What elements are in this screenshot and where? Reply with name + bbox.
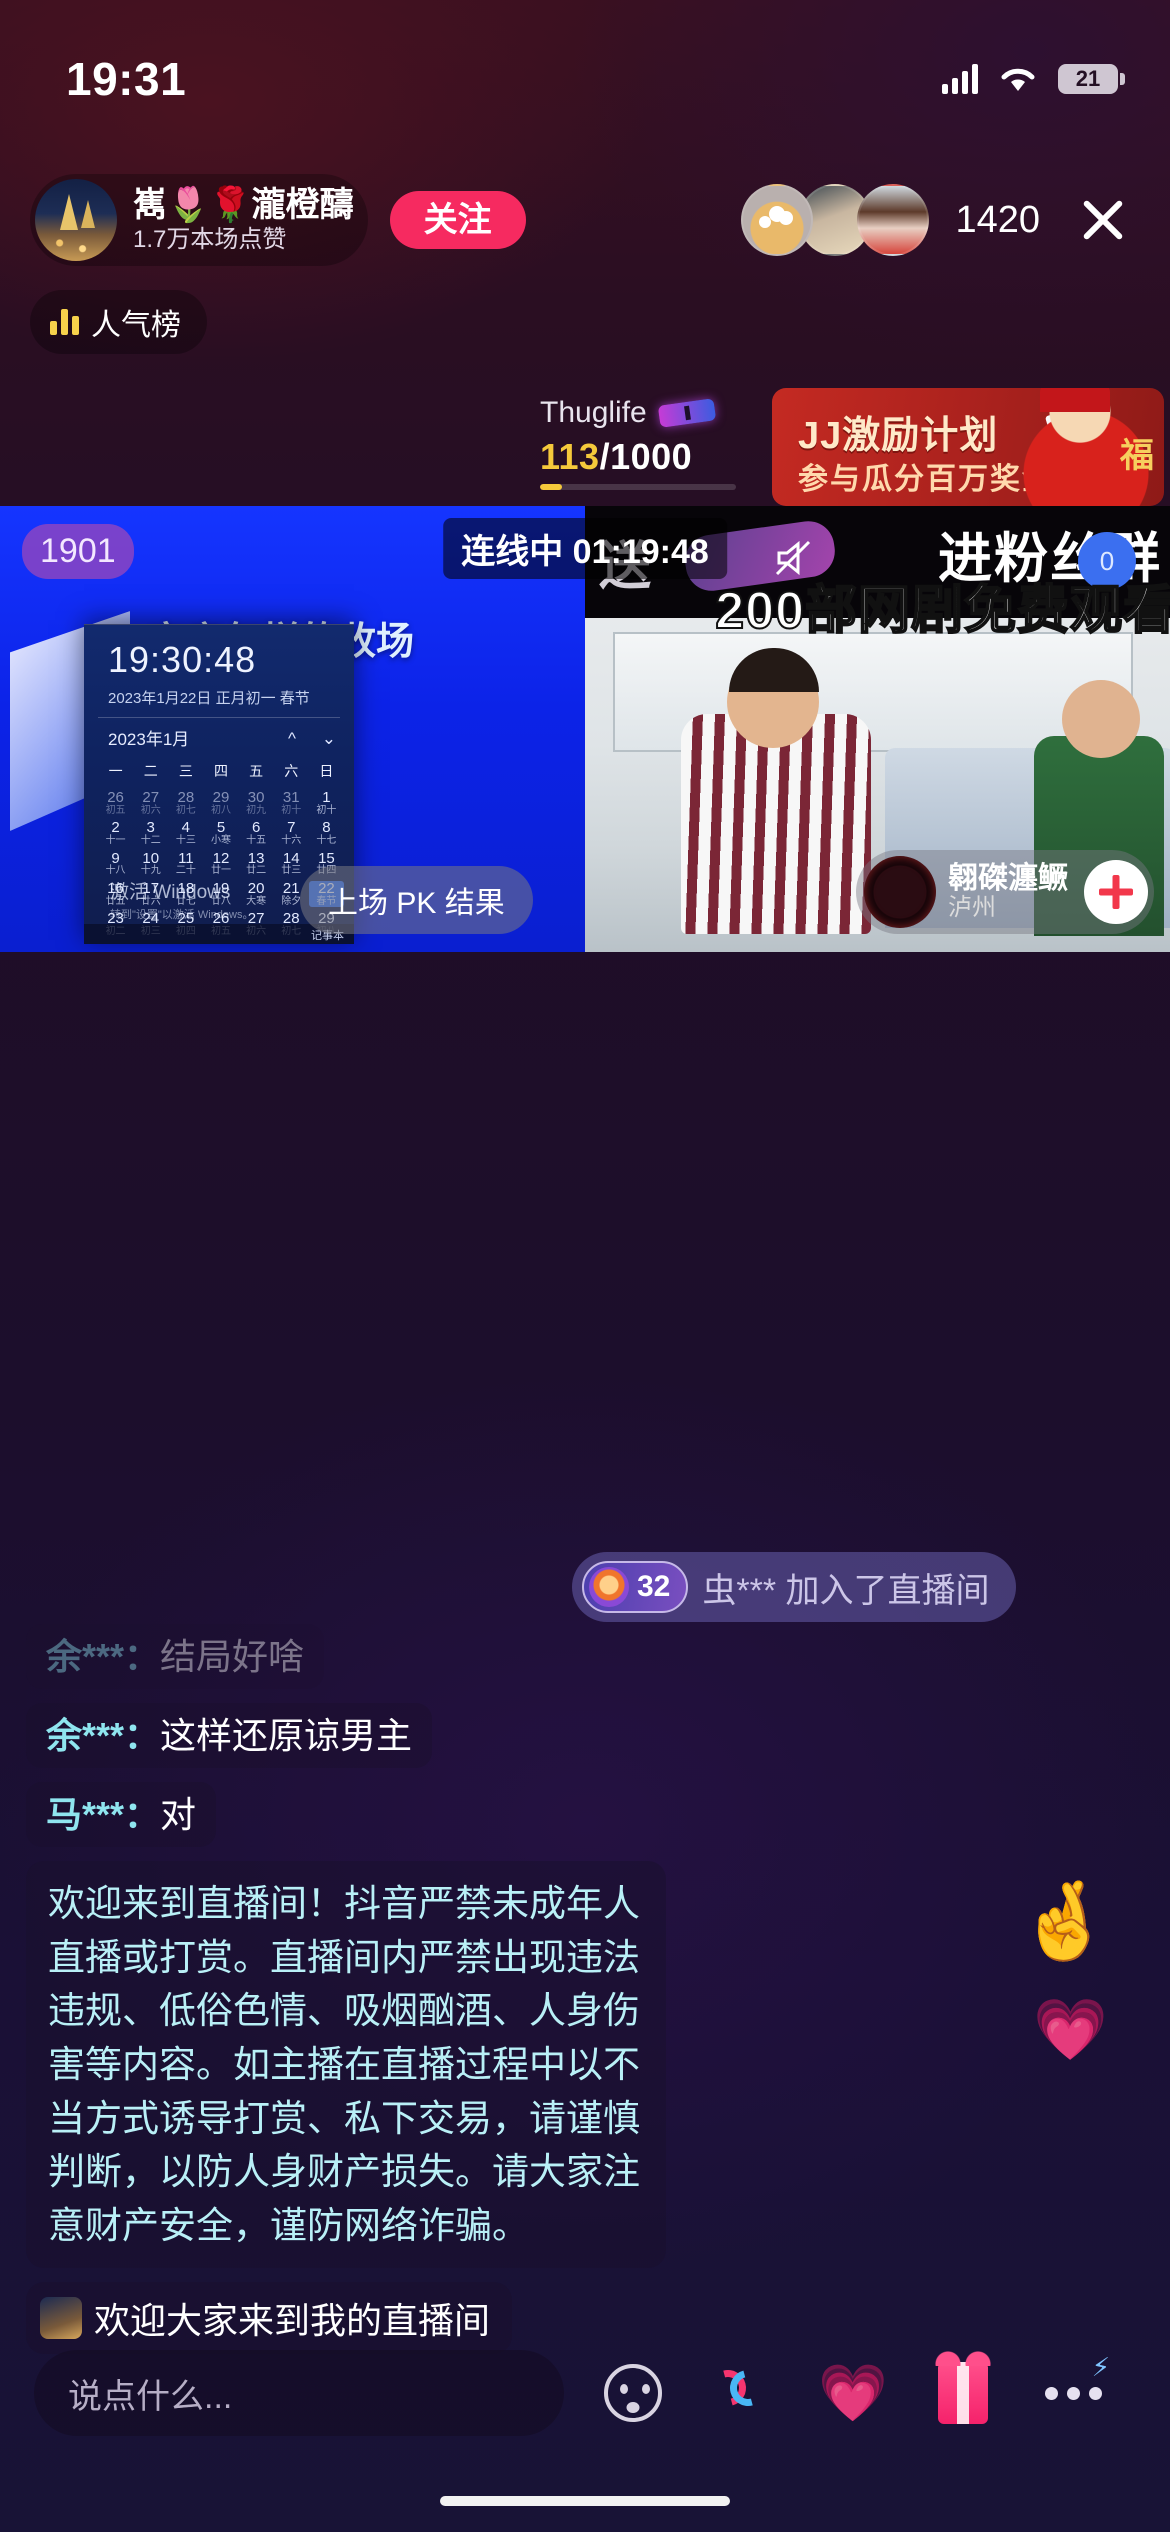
thuglife-name: Thuglife [540,396,647,430]
reaction-heart-icon: 💗 [1033,2000,1108,2060]
anchor-thumbnail [40,2297,82,2339]
anchor-meta: 嶲🌷🌹瀧橙醻 1.7万本场点赞 [133,187,360,254]
live-stream-app: 19:31 21 嶲🌷🌹瀧橙醻 1.7万本场点赞 关注 [0,0,1170,2532]
cellular-signal-icon [942,64,978,94]
panel-divider [98,717,340,718]
link-mic-button[interactable] [688,2338,798,2448]
viewer-avatar-3[interactable] [857,184,929,256]
welcome-text: 欢迎大家来到我的直播间 [94,2292,490,2344]
fortune-god-icon [1008,388,1158,506]
gift-button[interactable] [908,2338,1018,2448]
overlay-subtitle: 200部网剧免费观看 [715,568,1170,643]
guest-meta: 翱磔瀍鳜 泸州 [948,863,1068,921]
calendar-day-cell[interactable]: 8十七 [309,820,344,846]
anchor-avatar[interactable] [35,179,117,261]
windows-date: 2023年1月22日 正月初一 春节 [108,687,310,708]
popularity-rank-chip[interactable]: 人气榜 [30,290,207,354]
anchor-stats: 1.7万本场点赞 [133,227,354,253]
bolt-icon: ⚡ [1092,2352,1110,2383]
level-number: 32 [637,1570,670,1604]
guest-location: 泸州 [948,895,1068,921]
guest-avatar[interactable] [864,856,936,928]
calendar-weekday: 二 [133,761,168,786]
guest-info-bar[interactable]: 翱磔瀍鳜 泸州 [856,850,1154,934]
header-right-group: 1420 [741,184,1134,256]
guest-name: 翱磔瀍鳜 [948,863,1068,895]
calendar-day-cell[interactable]: 28初七 [168,790,203,816]
promo-banner[interactable]: JJ激励计划 参与瓜分百万奖金 [772,388,1164,506]
thuglife-separator: / [600,436,611,477]
join-room-text: 虫*** 加入了直播间 [702,1563,989,1612]
more-button[interactable]: ⚡ [1018,2338,1128,2448]
system-notice-text: 欢迎来到直播间！抖音严禁未成年人直播或打赏。直播间内严禁出现违法违规、低俗色情、… [26,1861,666,2268]
calendar-day-cell[interactable]: 27初六 [133,790,168,816]
system-notice-message: 欢迎来到直播间！抖音严禁未成年人直播或打赏。直播间内严禁出现违法违规、低俗色情、… [26,1861,666,2268]
calendar-weekday: 四 [203,761,238,786]
like-button[interactable]: 💗 [798,2338,908,2448]
message-input[interactable]: 说点什么... [34,2350,564,2436]
link-status-timer: 连线中 01:19:48 [443,518,727,579]
calendar-weekday: 五 [239,761,274,786]
calendar-day-cell[interactable]: 14廿三 [274,851,309,877]
battery-icon: 21 [1058,64,1118,94]
windows-activation-subtext: 转到"设置"以激活 Windows。 [110,906,254,922]
chat-text: 结局好啥 [160,1636,304,1677]
calendar-month-label: 2023年1月 [108,725,189,750]
chat-bubble: 余***：结局好啥 [26,1624,324,1689]
link-icon [710,2364,776,2422]
heart-icon: 💗 [818,2365,888,2421]
message-input-placeholder: 说点什么... [68,2369,232,2418]
pk-result-button[interactable]: 上场 PK 结果 [300,866,533,934]
calendar-day-cell[interactable]: 10十九 [133,851,168,877]
viewer-count[interactable]: 1420 [955,199,1040,242]
level-badge: 32 [582,1561,688,1613]
plus-icon[interactable] [1084,860,1148,924]
chat-message[interactable]: 余***：结局好啥 [26,1624,324,1689]
windows-activation-watermark: 激活 Windows 转到"设置"以激活 Windows。 [110,877,254,922]
calendar-day-cell[interactable]: 12廿一 [203,851,238,877]
thuglife-progress-widget[interactable]: Thuglife 113/1000 [540,396,770,490]
viewer-avatar-1[interactable] [741,184,813,256]
calendar-weekday: 三 [168,761,203,786]
gift-icon [938,2362,988,2424]
calendar-weekday: 一 [98,761,133,786]
link-status-label: 连线中 [461,533,563,571]
link-timer-value: 01:19:48 [573,533,709,571]
chevron-up-icon[interactable]: ^ [288,729,296,749]
calendar-day-cell[interactable]: 13廿二 [239,851,274,877]
more-icon [1045,2387,1102,2400]
anchor-name: 嶲🌷🌹瀧橙醻 [133,187,354,224]
thuglife-progress-bar [540,484,736,490]
bar-chart-icon [50,309,79,335]
pk-score-badge: 1901 [22,524,134,579]
thuglife-header: Thuglife [540,396,770,430]
close-icon[interactable] [1072,189,1134,251]
sunglasses-icon [657,398,716,428]
calendar-day-cell[interactable]: 11二十 [168,851,203,877]
scene-character-man [681,714,871,934]
follow-button[interactable]: 关注 [390,191,526,249]
status-bar-indicators: 21 [942,64,1118,94]
home-indicator [440,2496,730,2506]
thuglife-current: 113 [540,436,600,477]
chat-username: 余***： [46,1636,160,1677]
calendar-day-cell[interactable]: 26初五 [98,790,133,816]
action-icon-group: 💗 ⚡ [578,2338,1128,2448]
reaction-hand-icon: 🤞 [1017,1884,1112,1960]
pk-video-stage: 究竟怎样的收场 19:30:48 2023年1月22日 正月初一 春节 2023… [0,506,1170,952]
chat-message[interactable]: 马***：对 [26,1782,216,1847]
chat-bubble: 余***：这样还原谅男主 [26,1703,432,1768]
calendar-day-cell[interactable]: 29初八 [203,790,238,816]
chat-text: 这样还原谅男主 [160,1715,412,1756]
promo-banner-title: JJ激励计划 [798,404,998,459]
live-header: 嶲🌷🌹瀧橙醻 1.7万本场点赞 关注 1420 [0,170,1170,270]
chat-username: 马***： [46,1794,160,1835]
chat-username: 余***： [46,1715,160,1756]
thuglife-progress-text: 113/1000 [540,436,770,478]
battery-level: 21 [1076,66,1100,92]
emoji-button[interactable] [578,2338,688,2448]
calendar-day-cell[interactable]: 3十二 [133,820,168,846]
chat-message[interactable]: 余***：这样还原谅男主 [26,1703,432,1768]
calendar-weekday: 六 [274,761,309,786]
join-room-toast: 32 虫*** 加入了直播间 [572,1552,1016,1622]
calendar-day-cell[interactable]: 4十三 [168,820,203,846]
status-bar-time: 19:31 [66,52,186,106]
viewer-avatars[interactable] [741,184,929,256]
calendar-day-cell[interactable]: 6十五 [239,820,274,846]
wifi-icon [998,64,1038,94]
calendar-day-cell[interactable]: 30初九 [239,790,274,816]
windows-clock: 19:30:48 [108,639,256,681]
calendar-day-cell[interactable]: 7十六 [274,820,309,846]
thuglife-total: 1000 [610,436,692,477]
calendar-day-cell[interactable]: 2十一 [98,820,133,846]
calendar-day-cell[interactable]: 5小寒 [203,820,238,846]
chevron-down-icon[interactable]: ⌄ [322,729,336,749]
chat-message-list[interactable]: 余***：结局好啥余***：这样还原谅男主马***：对欢迎来到直播间！抖音严禁未… [26,1624,686,2368]
emoji-icon [604,2364,662,2422]
chat-text: 对 [160,1794,196,1835]
popularity-rank-label: 人气榜 [91,300,181,344]
anchor-card[interactable]: 嶲🌷🌹瀧橙醻 1.7万本场点赞 [30,174,368,266]
status-bar: 19:31 21 [0,0,1170,120]
chat-bubble: 马***：对 [26,1782,216,1847]
calendar-day-cell[interactable]: 9十八 [98,851,133,877]
level-gem-icon [589,1567,629,1607]
bottom-action-bar: 说点什么... 💗 ⚡ [0,2338,1170,2448]
calendar-day-cell[interactable]: 1初十 [309,790,344,816]
calendar-weekday: 日 [309,761,344,786]
calendar-day-cell[interactable]: 31初十 [274,790,309,816]
